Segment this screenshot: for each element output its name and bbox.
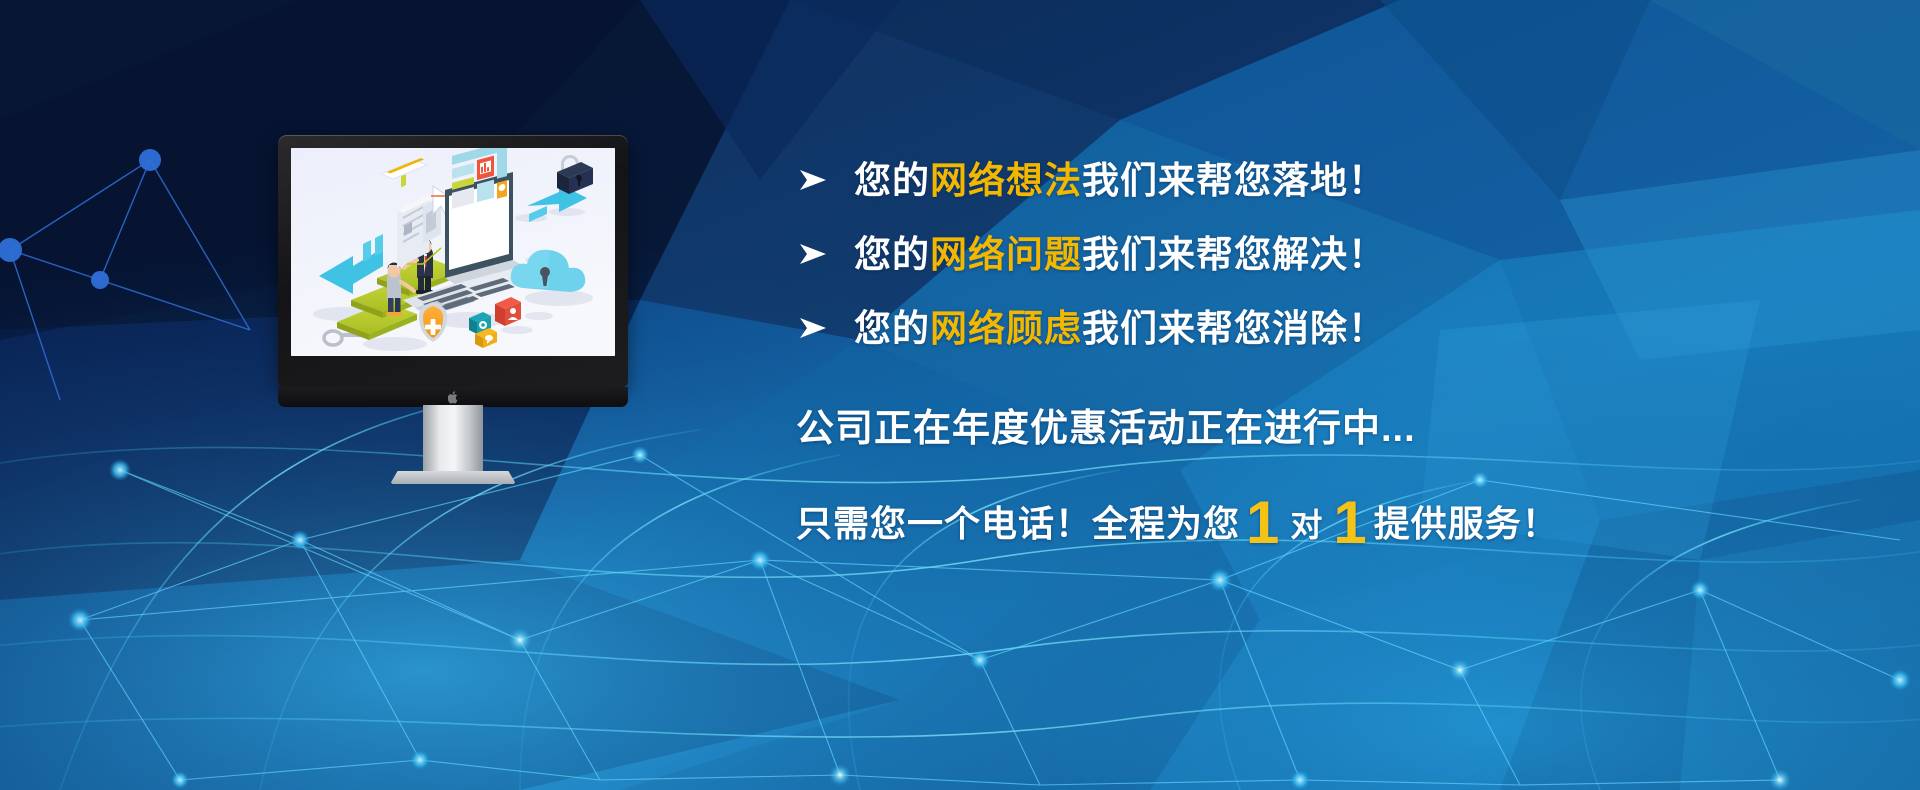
monitor-screen (291, 148, 615, 356)
bullet-1-prefix: 您的 (854, 160, 930, 201)
promo-number-2: 1 (1327, 489, 1373, 556)
monitor-bezel (278, 135, 628, 387)
bullet-item-2: 您的网络问题我们来帮您解决！ (796, 224, 1556, 284)
bullet-text-1: 您的网络想法我们来帮您落地！ (854, 162, 1386, 199)
bullet-text-2: 您的网络问题我们来帮您解决！ (854, 236, 1386, 273)
bullet-2-suffix: 我们来帮您解决！ (1082, 234, 1386, 275)
bullet-text-3: 您的网络顾虑我们来帮您消除！ (854, 310, 1386, 347)
arrow-right-icon (796, 239, 830, 269)
monitor-stand-foot (390, 471, 516, 484)
bullet-1-suffix: 我们来帮您落地！ (1082, 160, 1386, 201)
imac-monitor-illustration (278, 135, 628, 455)
promo-banner: 您的网络想法我们来帮您落地！ 您的网络问题我们来帮您解决！ 您的网络顾虑我们来帮… (0, 0, 1920, 790)
bullet-item-1: 您的网络想法我们来帮您落地！ (796, 150, 1556, 210)
apple-logo-icon (448, 391, 459, 404)
bullet-3-highlight: 网络顾虑 (930, 308, 1082, 349)
bullet-3-prefix: 您的 (854, 308, 930, 349)
headline-bullet-list: 您的网络想法我们来帮您落地！ 您的网络问题我们来帮您解决！ 您的网络顾虑我们来帮… (796, 150, 1556, 372)
bullet-2-highlight: 网络问题 (930, 234, 1082, 275)
bullet-item-3: 您的网络顾虑我们来帮您消除！ (796, 298, 1556, 358)
arrow-right-icon (796, 165, 830, 195)
monitor-stand-neck (423, 405, 483, 477)
bullet-1-highlight: 网络想法 (930, 160, 1082, 201)
bullet-2-prefix: 您的 (854, 234, 930, 275)
promo-line-2: 只需您一个电话！全程为您1对1提供服务！ (796, 492, 1696, 543)
bullet-3-suffix: 我们来帮您消除！ (1082, 308, 1386, 349)
promo-mid-word: 对 (1286, 507, 1327, 543)
promo-line-1: 公司正在年度优惠活动正在进行中... (796, 410, 1696, 450)
arrow-right-icon (796, 313, 830, 343)
promo-number-1: 1 (1240, 489, 1286, 556)
promo-line-2-part2: 提供服务！ (1374, 503, 1559, 544)
promo-copy-block: 公司正在年度优惠活动正在进行中... 只需您一个电话！全程为您1对1提供服务！ (796, 410, 1696, 543)
promo-line-2-part1: 只需您一个电话！全程为您 (796, 503, 1240, 544)
monitor-chin (278, 387, 628, 407)
isometric-security-scene (291, 148, 615, 356)
